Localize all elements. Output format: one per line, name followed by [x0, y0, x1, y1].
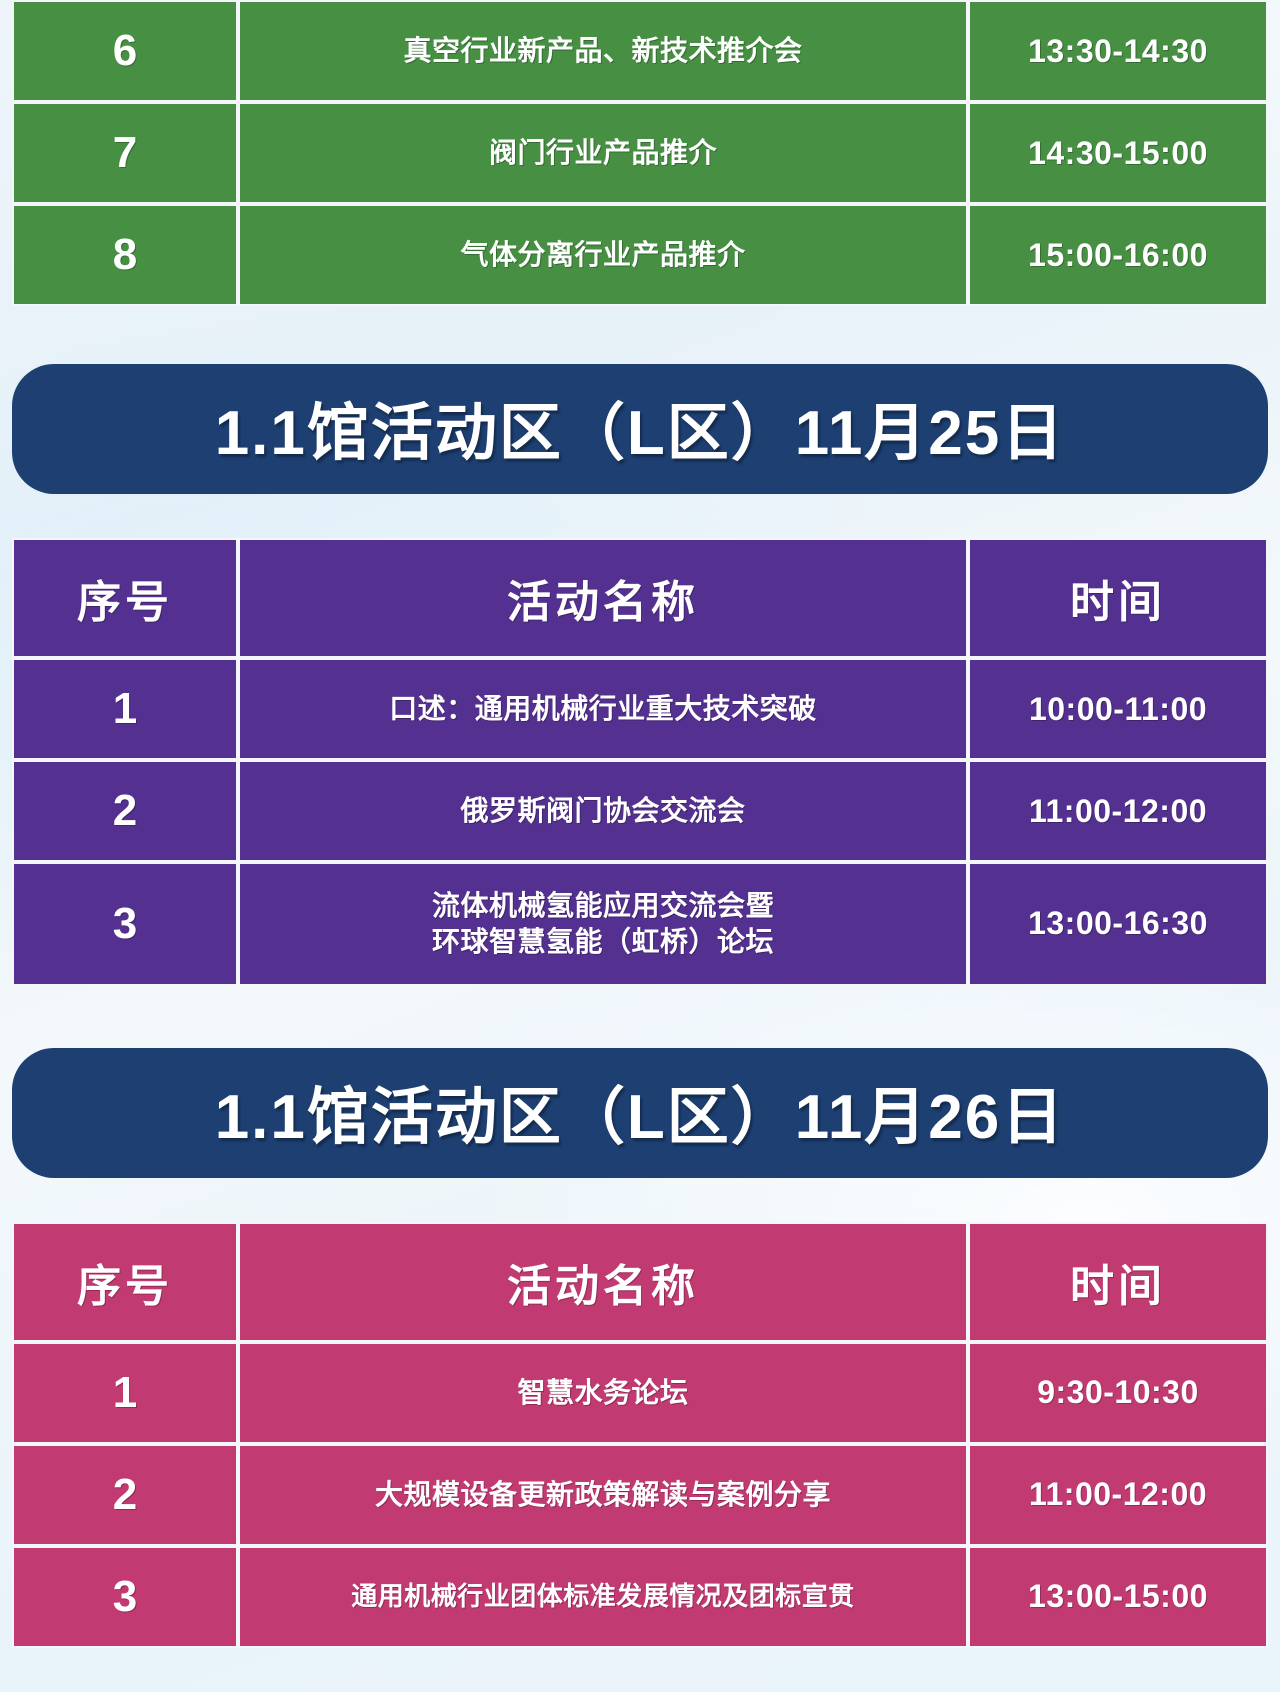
- row-number: 3: [12, 1546, 238, 1648]
- row-number: 1: [12, 658, 238, 760]
- column-header-no: 序号: [12, 538, 238, 658]
- spacer: [0, 986, 1280, 1048]
- activity-time: 14:30-15:00: [968, 102, 1268, 204]
- activity-time: 10:00-11:00: [968, 658, 1268, 760]
- activity-time: 13:00-15:00: [968, 1546, 1268, 1648]
- activity-time: 15:00-16:00: [968, 204, 1268, 306]
- table-row: 7 阀门行业产品推介 14:30-15:00: [12, 102, 1268, 204]
- table-header-row: 序号 活动名称 时间: [12, 538, 1268, 658]
- row-number: 2: [12, 760, 238, 862]
- table-row: 1 智慧水务论坛 9:30-10:30: [12, 1342, 1268, 1444]
- column-header-name: 活动名称: [238, 1222, 968, 1342]
- section-banner-nov25: 1.1馆活动区（L区）11月25日: [12, 364, 1268, 494]
- table-row: 6 真空行业新产品、新技术推介会 13:30-14:30: [12, 0, 1268, 102]
- column-header-name: 活动名称: [238, 538, 968, 658]
- activity-name: 流体机械氢能应用交流会暨 环球智慧氢能（虹桥）论坛: [238, 862, 968, 986]
- activity-table-green: 6 真空行业新产品、新技术推介会 13:30-14:30 7 阀门行业产品推介 …: [12, 0, 1268, 306]
- table-row: 1 口述：通用机械行业重大技术突破 10:00-11:00: [12, 658, 1268, 760]
- table-header: 序号 活动名称 时间: [12, 538, 1268, 658]
- row-number: 1: [12, 1342, 238, 1444]
- spacer: [0, 1178, 1280, 1222]
- column-header-no: 序号: [12, 1222, 238, 1342]
- table-body: 1 智慧水务论坛 9:30-10:30 2 大规模设备更新政策解读与案例分享 1…: [12, 1342, 1268, 1648]
- section-banner-nov26: 1.1馆活动区（L区）11月26日: [12, 1048, 1268, 1178]
- activity-name: 俄罗斯阀门协会交流会: [238, 760, 968, 862]
- activity-time: 13:30-14:30: [968, 0, 1268, 102]
- row-number: 2: [12, 1444, 238, 1546]
- column-header-time: 时间: [968, 1222, 1268, 1342]
- table-header-row: 序号 活动名称 时间: [12, 1222, 1268, 1342]
- table-row: 8 气体分离行业产品推介 15:00-16:00: [12, 204, 1268, 306]
- table-row: 3 流体机械氢能应用交流会暨 环球智慧氢能（虹桥）论坛 13:00-16:30: [12, 862, 1268, 986]
- table-body: 6 真空行业新产品、新技术推介会 13:30-14:30 7 阀门行业产品推介 …: [12, 0, 1268, 306]
- row-number: 6: [12, 0, 238, 102]
- activity-time: 11:00-12:00: [968, 1444, 1268, 1546]
- row-number: 8: [12, 204, 238, 306]
- row-number: 3: [12, 862, 238, 986]
- column-header-time: 时间: [968, 538, 1268, 658]
- activity-time: 11:00-12:00: [968, 760, 1268, 862]
- activity-time: 9:30-10:30: [968, 1342, 1268, 1444]
- schedule-page: 6 真空行业新产品、新技术推介会 13:30-14:30 7 阀门行业产品推介 …: [0, 0, 1280, 1648]
- activity-name: 口述：通用机械行业重大技术突破: [238, 658, 968, 760]
- activity-name: 通用机械行业团体标准发展情况及团标宣贯: [238, 1546, 968, 1648]
- table-header: 序号 活动名称 时间: [12, 1222, 1268, 1342]
- activity-name: 真空行业新产品、新技术推介会: [238, 0, 968, 102]
- activity-name: 智慧水务论坛: [238, 1342, 968, 1444]
- table-row: 3 通用机械行业团体标准发展情况及团标宣贯 13:00-15:00: [12, 1546, 1268, 1648]
- spacer: [0, 494, 1280, 538]
- activity-table-nov26: 序号 活动名称 时间 1 智慧水务论坛 9:30-10:30 2 大规模设备更新…: [12, 1222, 1268, 1648]
- activity-time: 13:00-16:30: [968, 862, 1268, 986]
- activity-name: 气体分离行业产品推介: [238, 204, 968, 306]
- table-row: 2 俄罗斯阀门协会交流会 11:00-12:00: [12, 760, 1268, 862]
- activity-table-nov25: 序号 活动名称 时间 1 口述：通用机械行业重大技术突破 10:00-11:00…: [12, 538, 1268, 986]
- table-row: 2 大规模设备更新政策解读与案例分享 11:00-12:00: [12, 1444, 1268, 1546]
- table-body: 1 口述：通用机械行业重大技术突破 10:00-11:00 2 俄罗斯阀门协会交…: [12, 658, 1268, 986]
- activity-name: 大规模设备更新政策解读与案例分享: [238, 1444, 968, 1546]
- spacer: [0, 306, 1280, 364]
- row-number: 7: [12, 102, 238, 204]
- activity-name: 阀门行业产品推介: [238, 102, 968, 204]
